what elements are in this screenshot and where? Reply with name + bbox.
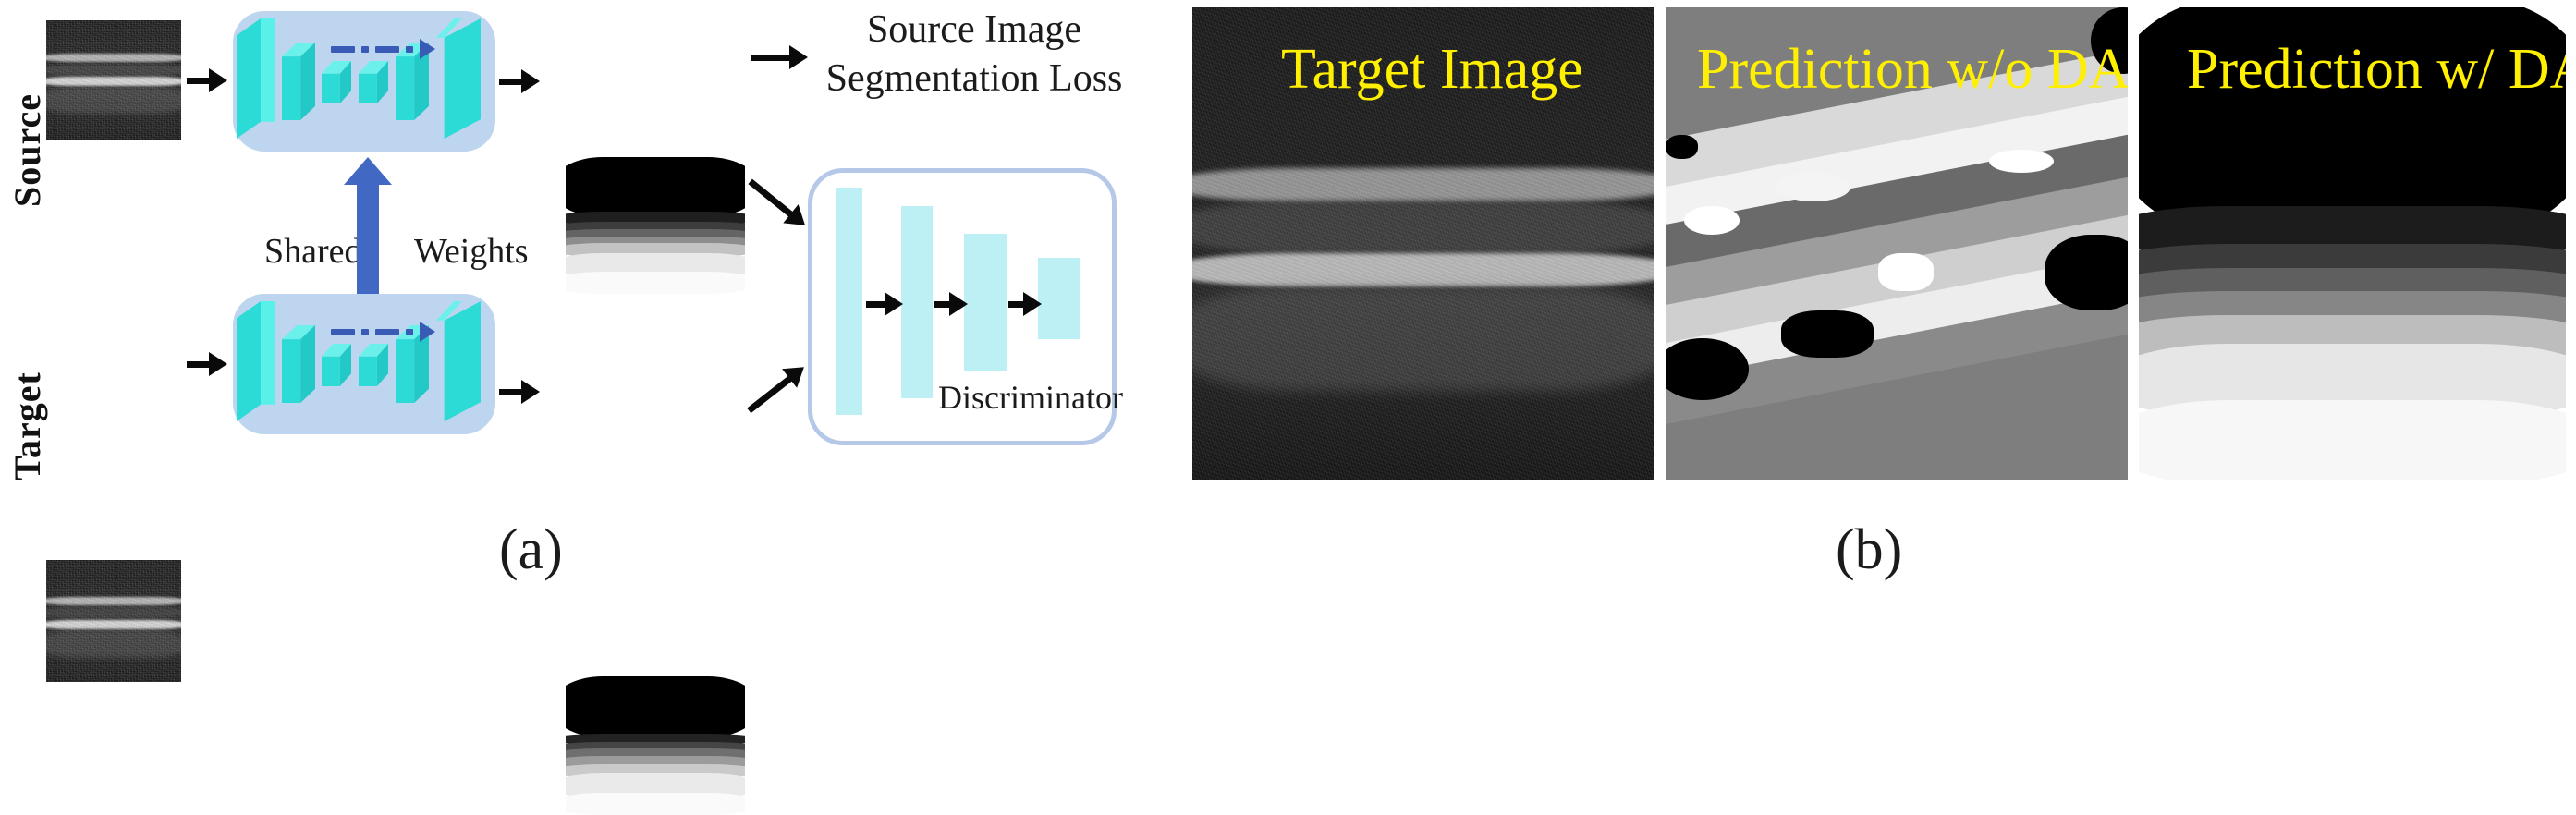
generator-top-block-6	[436, 18, 481, 139]
figure-root: Source	[0, 0, 2576, 627]
discriminator-bar-4	[1038, 258, 1080, 339]
tile-caption-prediction-without-da: Prediction w/o DA	[1697, 41, 2128, 98]
generator-bottom-block-4	[359, 344, 388, 386]
generator-bottom-block-6	[436, 301, 481, 421]
generator-top-block-1	[237, 18, 275, 139]
panel-b-tile-prediction-without-da: Prediction w/o DA	[1666, 7, 2128, 480]
discriminator-box: Discriminator	[808, 168, 1117, 445]
row-label-source: Source	[6, 22, 49, 207]
target-input-image	[46, 560, 181, 682]
tile-caption-target-image: Target Image	[1281, 41, 1583, 98]
tile-caption-prediction-with-da: Prediction w/ DA	[2187, 41, 2566, 98]
to-discriminator-bottom-arrow-icon	[749, 366, 805, 410]
generator-bottom-block-2	[282, 325, 315, 403]
source-input-image	[46, 20, 181, 140]
generator-top-block-4	[359, 61, 388, 103]
panel-b-caption: (b)	[1836, 517, 1902, 583]
to-discriminator-top-arrow-icon	[751, 181, 807, 226]
panel-b-tile-prediction-with-da: Prediction w/ DA	[2139, 7, 2566, 480]
generator-top-block-3	[322, 61, 351, 103]
discriminator-bar-3	[964, 234, 1007, 371]
discriminator-bar-2	[901, 206, 933, 398]
panel-a-caption: (a)	[499, 517, 563, 583]
skip-connection-dash-dot-right-arrow-icon	[331, 39, 435, 59]
skip-connection-bottom-dash-dot-right-arrow-icon	[331, 322, 435, 342]
panel-b: Target Image Predict	[1183, 0, 2576, 627]
panel-b-tile-target-image: Target Image	[1192, 7, 1654, 480]
generator-bottom-block-3	[322, 344, 351, 386]
panel-a: Source	[0, 0, 1151, 627]
source-segmentation-loss-caption: Source Image Segmentation Loss	[817, 6, 1131, 103]
loss-caption-line-1: Source Image	[817, 6, 1131, 55]
source-output-segmentation	[566, 157, 745, 294]
discriminator-label: Discriminator	[938, 378, 1123, 417]
target-output-segmentation	[566, 676, 745, 815]
generator-bottom-block-1	[237, 301, 275, 421]
row-label-target: Target	[6, 305, 49, 480]
discriminator-bar-1	[836, 188, 862, 415]
loss-caption-line-2: Segmentation Loss	[817, 55, 1131, 103]
shared-weights-label-right: Weights	[414, 231, 529, 272]
generator-top-block-2	[282, 43, 315, 120]
